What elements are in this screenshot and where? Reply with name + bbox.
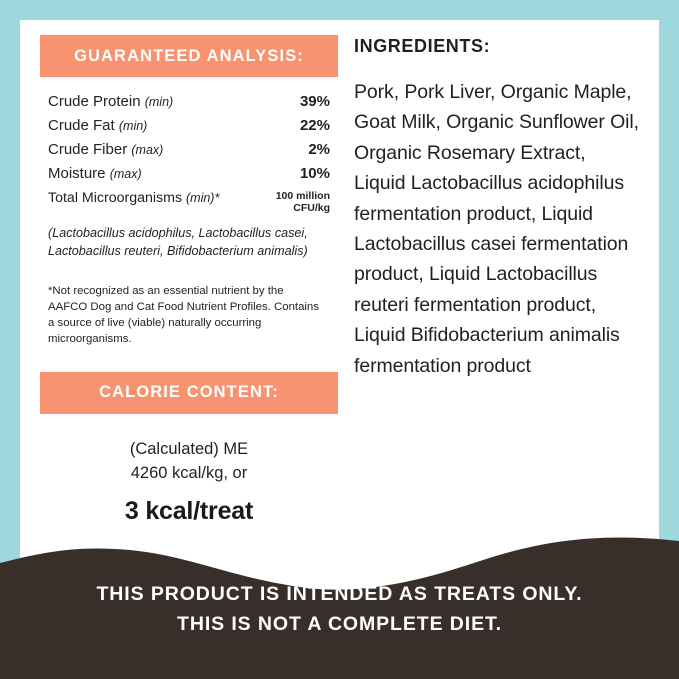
nutrient-value: 100 millionCFU/kg: [261, 186, 338, 217]
calorie-per-treat: 3 kcal/treat: [40, 497, 338, 526]
nutrient-value: 10%: [261, 162, 338, 186]
banner-disclaimer: THIS PRODUCT IS INTENDED AS TREATS ONLY.…: [0, 561, 679, 679]
nutrient-name: Moisture: [48, 165, 106, 182]
table-row-microorganisms: Total Microorganisms (min)* 100 millionC…: [40, 186, 338, 217]
left-column: GUARANTEED ANALYSIS: Crude Protein (min)…: [20, 20, 338, 526]
aafco-footnote: *Not recognized as an essential nutrient…: [40, 261, 338, 348]
table-row: Crude Fat (min) 22%: [40, 113, 338, 137]
nutrient-label-cell: Crude Protein (min): [40, 89, 261, 113]
nutrient-label-cell: Moisture (max): [40, 162, 261, 186]
table-row: Crude Fiber (max) 2%: [40, 138, 338, 162]
nutrient-qualifier: (max): [110, 167, 142, 181]
calorie-content-header: CALORIE CONTENT:: [40, 372, 338, 414]
product-label: GUARANTEED ANALYSIS: Crude Protein (min)…: [0, 0, 679, 679]
table-row: Crude Protein (min) 39%: [40, 89, 338, 113]
nutrient-qualifier: (min): [145, 95, 173, 109]
right-column: INGREDIENTS: Pork, Pork Liver, Organic M…: [338, 20, 659, 526]
table-row: Moisture (max) 10%: [40, 162, 338, 186]
nutrient-qualifier: (min): [119, 119, 147, 133]
microorganisms-value-line2: CFU/kg: [293, 202, 330, 214]
guaranteed-analysis-header: GUARANTEED ANALYSIS:: [40, 35, 338, 77]
calorie-content-section: CALORIE CONTENT: (Calculated) ME 4260 kc…: [40, 372, 338, 527]
nutrient-value: 2%: [261, 138, 338, 162]
microorganisms-value-line1: 100 million: [276, 190, 330, 202]
ingredients-list: Pork, Pork Liver, Organic Maple, Goat Mi…: [354, 77, 641, 381]
calorie-values: (Calculated) ME 4260 kcal/kg, or 3 kcal/…: [40, 420, 338, 527]
nutrient-label-cell: Crude Fat (min): [40, 113, 261, 137]
bacteria-strain-note: (Lactobacillus acidophilus, Lactobacillu…: [40, 217, 338, 261]
guaranteed-analysis-title: GUARANTEED ANALYSIS:: [74, 47, 304, 66]
nutrient-value: 39%: [261, 89, 338, 113]
nutrient-label-cell: Total Microorganisms (min)*: [40, 186, 261, 217]
guaranteed-analysis-table: Crude Protein (min) 39% Crude Fat (min) …: [40, 89, 338, 217]
nutrient-name: Crude Fiber: [48, 141, 127, 158]
nutrient-name: Crude Fat: [48, 117, 115, 134]
nutrient-qualifier: (min)*: [186, 191, 219, 205]
nutrient-name: Total Microorganisms: [48, 190, 182, 206]
nutrient-qualifier: (max): [131, 143, 163, 157]
ingredients-title: INGREDIENTS:: [354, 36, 641, 57]
calorie-line-me: (Calculated) ME: [40, 438, 338, 462]
label-columns: GUARANTEED ANALYSIS: Crude Protein (min)…: [20, 20, 659, 526]
nutrient-name: Crude Protein: [48, 93, 141, 110]
banner-line-1: THIS PRODUCT IS INTENDED AS TREATS ONLY.: [97, 579, 583, 609]
calorie-content-title: CALORIE CONTENT:: [99, 383, 279, 402]
calorie-line-per-kg: 4260 kcal/kg, or: [40, 462, 338, 486]
banner-line-2: THIS IS NOT A COMPLETE DIET.: [177, 609, 502, 639]
nutrient-value: 22%: [261, 113, 338, 137]
nutrient-label-cell: Crude Fiber (max): [40, 138, 261, 162]
